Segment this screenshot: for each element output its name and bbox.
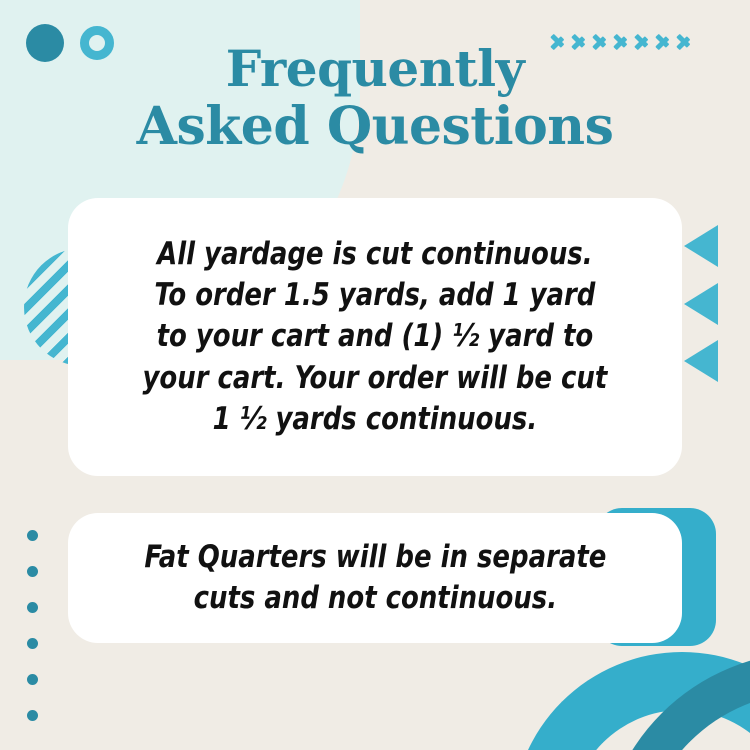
faq-answer-1-line: 1 ½ yards continuous. xyxy=(143,399,608,440)
faq-poster: Frequently Asked Questions All yardage i… xyxy=(0,0,750,750)
faq-answer-2-text: Fat Quarters will be in separate cuts an… xyxy=(129,537,621,619)
faq-answer-1-line: To order 1.5 yards, add 1 yard xyxy=(143,275,608,316)
dot-icon xyxy=(27,710,38,721)
triangle-left-icon xyxy=(684,283,718,325)
triangle-left-icon xyxy=(684,225,718,267)
faq-answer-1-line: All yardage is cut continuous. xyxy=(143,234,608,275)
faq-card-2: Fat Quarters will be in separate cuts an… xyxy=(68,513,682,643)
dot-column xyxy=(27,530,38,721)
dot-icon xyxy=(27,638,38,649)
page-title: Frequently Asked Questions xyxy=(0,40,750,156)
dot-icon xyxy=(27,530,38,541)
page-title-line-2: Asked Questions xyxy=(0,97,750,156)
dot-icon xyxy=(27,602,38,613)
faq-card-1: All yardage is cut continuous. To order … xyxy=(68,198,682,476)
faq-answer-2-line: Fat Quarters will be in separate xyxy=(144,537,606,578)
dot-icon xyxy=(27,566,38,577)
page-title-line-1: Frequently xyxy=(0,40,750,97)
dot-icon xyxy=(27,674,38,685)
triangle-left-icon xyxy=(684,340,718,382)
faq-answer-2-line: cuts and not continuous. xyxy=(144,578,606,619)
faq-answer-1-line: your cart. Your order will be cut xyxy=(143,358,608,399)
faq-answer-1-line: to your cart and (1) ½ yard to xyxy=(143,316,608,357)
faq-answer-1-text: All yardage is cut continuous. To order … xyxy=(128,234,623,440)
